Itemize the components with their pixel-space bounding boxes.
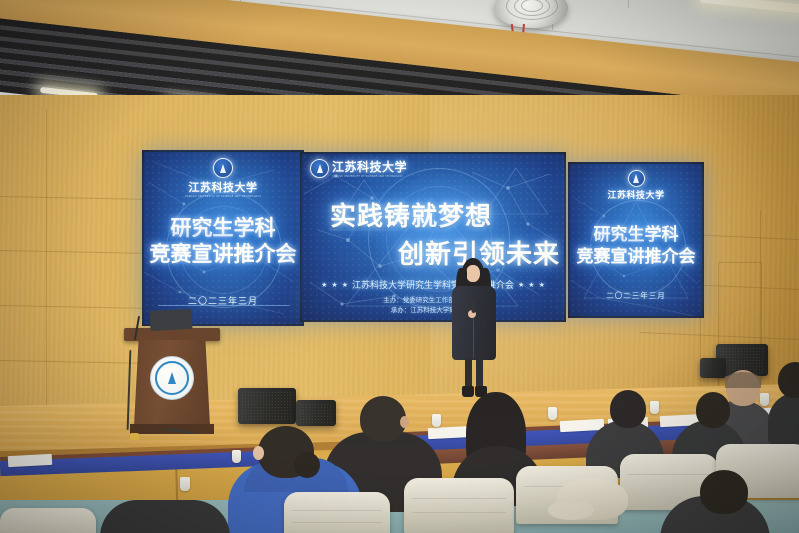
- audience-person-head: [778, 362, 799, 398]
- star-icon: ★: [528, 281, 534, 289]
- star-icon: ★: [331, 281, 337, 289]
- left-led-screen: 江苏科技大学 JIANGSU UNIVERSITY OF SCIENCE AND…: [144, 152, 302, 324]
- stage-speaker-left-small: [296, 400, 336, 426]
- audience-person-head: [696, 392, 730, 428]
- center-screen-organizer-line1: 主办：党委研究生工作部 研究生院: [302, 294, 564, 304]
- logo-sail-shape: [220, 164, 226, 173]
- center-screen-organizer-line2: 承办：江苏科技大学研究生会: [302, 304, 564, 314]
- logo-sail-shape: [317, 164, 323, 173]
- center-led-screen: 江苏科技大学 JIANGSU UNIVERSITY OF SCIENCE AND…: [302, 154, 564, 320]
- audience-person-head: [610, 390, 646, 428]
- center-screen-headline-line1: 实践铸就梦想: [330, 196, 492, 233]
- audience-person-shoulders: [100, 500, 230, 533]
- speaker-grill: [241, 391, 293, 421]
- paper-cup: [232, 450, 241, 463]
- audience-person-head: [360, 396, 406, 442]
- university-logo-icon: [213, 158, 233, 178]
- podium-emblem: [150, 356, 194, 400]
- stage-speaker-right-wedge: [700, 358, 726, 378]
- paper-cup: [548, 407, 557, 420]
- emblem-ring: [155, 361, 189, 395]
- paper-cup: [650, 401, 659, 414]
- speaker-grill: [299, 403, 333, 423]
- left-screen-date: 二〇二三年三月: [144, 294, 302, 307]
- audience-person-hair: [725, 372, 761, 388]
- center-screen-logo-en: JIANGSU UNIVERSITY OF SCIENCE AND TECHNO…: [332, 175, 407, 178]
- chair-fold: [412, 498, 506, 499]
- star-icon: ★: [342, 281, 348, 289]
- stage-speaker-left-large: [238, 388, 296, 424]
- ceiling-seam: [628, 0, 629, 8]
- center-screen-subtitle-row: ★ ★ ★ 江苏科技大学研究生学科竞赛宣讲推介会 ★ ★ ★: [302, 278, 564, 291]
- podium: [124, 310, 220, 438]
- right-screen-logo: 江苏科技大学: [570, 170, 702, 201]
- podium-cable: [127, 350, 132, 430]
- left-screen-title-line2: 竞赛宣讲推介会: [144, 238, 302, 268]
- right-led-screen: 江苏科技大学 研究生学科 竞赛宣讲推介会 二〇二三年三月: [570, 164, 702, 316]
- podium-laptop: [150, 309, 193, 331]
- center-screen-logo: 江苏科技大学 JIANGSU UNIVERSITY OF SCIENCE AND…: [310, 158, 407, 178]
- audience-person-hair-bun: [294, 452, 320, 478]
- cap-brim: [548, 500, 594, 520]
- chair-with-cover: [284, 492, 390, 533]
- lecture-hall-photo: 江苏科技大学 JIANGSU UNIVERSITY OF SCIENCE AND…: [0, 0, 799, 533]
- audience-person-head: [700, 470, 748, 514]
- right-screen-title-line2: 竞赛宣讲推介会: [570, 242, 702, 267]
- university-logo-icon: [628, 170, 645, 187]
- audience-person-ear: [400, 416, 409, 428]
- presenter-leg: [465, 358, 472, 388]
- right-screen-logo-name: 江苏科技大学: [570, 188, 702, 201]
- star-icon: ★: [518, 281, 524, 289]
- left-screen-logo-name: 江苏科技大学: [144, 179, 302, 195]
- chair-with-cover: [0, 508, 96, 533]
- right-screen-frame: 江苏科技大学 研究生学科 竞赛宣讲推介会 二〇二三年三月: [568, 162, 704, 318]
- logo-sail-shape: [633, 174, 639, 183]
- left-screen-logo: 江苏科技大学 JIANGSU UNIVERSITY OF SCIENCE AND…: [144, 158, 302, 198]
- paper-cup: [760, 393, 769, 406]
- audience-person-ear: [253, 446, 264, 460]
- chair-fold: [292, 522, 382, 523]
- paper-cup: [432, 414, 441, 427]
- chair-fold: [628, 474, 710, 475]
- desk-paper: [8, 454, 53, 467]
- presenter-leg: [476, 358, 483, 388]
- star-icon: ★: [539, 281, 545, 289]
- university-logo-icon: [310, 159, 329, 178]
- paper-cup: [180, 477, 190, 491]
- chair-fold: [412, 512, 506, 513]
- left-screen-frame: 江苏科技大学 JIANGSU UNIVERSITY OF SCIENCE AND…: [142, 150, 304, 326]
- floor-cable-clamp: [130, 433, 139, 440]
- center-screen-logo-name: 江苏科技大学: [332, 158, 407, 175]
- presenter-face: [466, 265, 480, 282]
- wall-seam: [46, 110, 47, 440]
- left-screen-logo-en: JIANGSU UNIVERSITY OF SCIENCE AND TECHNO…: [144, 195, 302, 198]
- star-icon: ★: [321, 281, 327, 289]
- presenter: [440, 258, 510, 406]
- presenter-boot: [462, 386, 474, 397]
- chair-with-cover: [404, 478, 514, 533]
- center-screen-frame: 江苏科技大学 JIANGSU UNIVERSITY OF SCIENCE AND…: [300, 152, 566, 322]
- right-screen-date: 二〇二三年三月: [570, 290, 702, 301]
- chair-fold: [292, 510, 382, 511]
